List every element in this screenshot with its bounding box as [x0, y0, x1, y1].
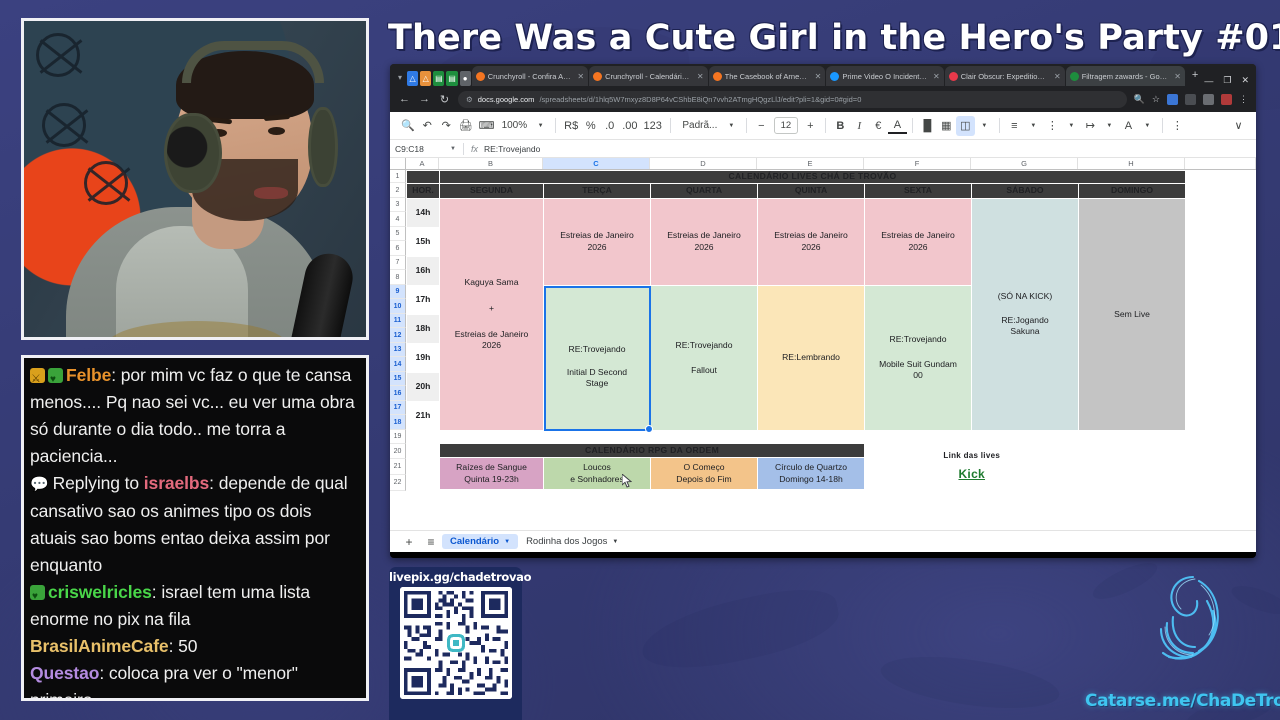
omnibar-actions: 🔍 ☆ ⋮ — [1134, 94, 1248, 105]
kick-link[interactable]: Kick — [865, 466, 1079, 482]
headphones-band — [182, 41, 324, 83]
row-header-10[interactable]: 10 — [390, 299, 406, 314]
font-caret-icon[interactable]: ▼ — [722, 116, 741, 136]
catarse-watermark: Catarse.me/ChaDeTrovao — [1085, 565, 1275, 715]
close-tab-icon[interactable]: ✕ — [930, 72, 940, 81]
webcam-video — [21, 18, 369, 340]
tab-pinned-sheets-active[interactable]: ▤ — [433, 71, 444, 86]
font-family-select[interactable]: Padrã... — [676, 116, 722, 136]
row-header-column: 1 2 3 4 5 6 7 8 9 10 11 12 13 14 15 16 1… — [390, 158, 406, 530]
headphones-cup — [308, 107, 338, 187]
row-header-4[interactable]: 4 — [390, 212, 406, 227]
day-header-row: HOR. SEGUNDA TERÇA QUARTA QUINTA SEXTA S… — [407, 184, 1257, 199]
sheet-tab-rodinha[interactable]: Rodinha dos Jogos ▼ — [518, 534, 626, 549]
prime-video-favicon — [830, 72, 839, 81]
chat-panel[interactable]: Felbe: por mim vc faz o que te cansa men… — [21, 355, 369, 701]
chrome-menu-icon[interactable]: ⋮ — [1239, 94, 1248, 105]
link-label: Link das lives — [865, 451, 1079, 462]
hour-label-18h[interactable]: 18h — [407, 315, 440, 344]
close-tab-icon[interactable]: ✕ — [1171, 72, 1181, 81]
extension-icon[interactable] — [1221, 94, 1232, 105]
reply-bubble-icon: 💬 — [30, 471, 49, 498]
sheet-tab-bar: + ≡ Calendário ▼ Rodinha dos Jogos ▼ — [390, 530, 1256, 552]
row-header-20[interactable]: 20 — [390, 444, 406, 459]
crunchyroll-favicon — [476, 72, 485, 81]
sheets-toolbar: 🔍 ↶ ↷ 🖨 ⌨ 100% ▼ R$ % .0 .00 123 Padrã..… — [390, 112, 1256, 140]
calendar-title-row: CALENDÁRIO LIVES CHÁ DE TROVÃO — [407, 171, 1257, 184]
browser-tab[interactable]: Crunchyroll - Calendário de Tra ✕ — [589, 66, 708, 86]
column-header-E[interactable]: E — [757, 158, 864, 169]
browser-tab[interactable]: The Casebook of Arne em port ✕ — [709, 66, 826, 86]
column-header-F[interactable]: F — [864, 158, 971, 169]
close-tab-icon[interactable]: ✕ — [694, 72, 704, 81]
chevron-down-icon[interactable]: ▼ — [612, 539, 618, 545]
livepix-url-label: livepix.gg/chadetrovao — [389, 570, 522, 584]
name-box[interactable]: C9:C18 — [395, 144, 450, 154]
corner-cell[interactable] — [390, 158, 406, 170]
chat-colon: : — [111, 365, 121, 385]
reload-icon[interactable]: ↻ — [438, 93, 451, 106]
cell-terca-bottom-selected[interactable]: RE:Trovejando Initial D SecondStage — [544, 286, 651, 431]
row-header-5[interactable]: 5 — [390, 227, 406, 241]
name-box-caret-icon[interactable]: ▼ — [450, 146, 456, 152]
text-wrap-icon[interactable]: ↦ — [1081, 116, 1100, 136]
tab-pinned-sheets[interactable]: ▤ — [446, 71, 457, 86]
tab-title: Clair Obscur: Expedition 33 #16 — [961, 72, 1048, 81]
quarta-line2: Fallout — [651, 365, 757, 377]
sheet-tab-label: Calendário — [450, 536, 499, 547]
site-info-icon[interactable]: ⚙ — [466, 95, 473, 104]
quarta-line1: RE:Trovejando — [651, 340, 757, 352]
calendar-title: CALENDÁRIO LIVES CHÁ DE TROVÃO — [440, 171, 1186, 184]
toolbar-divider — [746, 118, 747, 133]
link-block: Link das lives Kick — [865, 444, 1079, 490]
percent-format-button[interactable]: % — [581, 116, 600, 136]
day-header-terca: TERÇA — [544, 184, 651, 199]
column-header-H[interactable]: H — [1078, 158, 1185, 169]
mouse-cursor-icon — [622, 474, 632, 488]
undo-icon[interactable]: ↶ — [418, 116, 437, 136]
row-header-16[interactable]: 16 — [390, 386, 406, 401]
chat-colon: : — [209, 473, 219, 493]
extension-icon[interactable] — [1167, 94, 1178, 105]
rpg-item-3[interactable]: O ComeçoDepois do Fim — [651, 458, 758, 490]
merge-cells-icon[interactable]: ◫ — [956, 116, 975, 136]
increase-font-size-button[interactable]: + — [801, 116, 820, 136]
cell-sabado-block[interactable]: (SÓ NA KICK) RE:JogandoSakuna — [972, 199, 1079, 431]
add-sheet-icon[interactable]: + — [398, 535, 420, 549]
day-header-sabado: SÁBADO — [972, 184, 1079, 199]
crunchyroll-favicon — [593, 72, 602, 81]
hour-label-21h[interactable]: 21h — [407, 402, 440, 431]
row-header-9[interactable]: 9 — [390, 285, 406, 299]
column-headers: A B C D E F G H — [406, 158, 1256, 170]
formula-bar: C9:C18 ▼ fx RE:Trovejando — [390, 140, 1256, 158]
row-header-12[interactable]: 12 — [390, 328, 406, 343]
toolbar-divider — [1162, 118, 1163, 133]
row-header-8[interactable]: 8 — [390, 270, 406, 285]
browser-tab[interactable]: Clair Obscur: Expedition 33 #16 ✕ — [945, 66, 1065, 86]
close-window-button[interactable]: ✕ — [1241, 75, 1249, 86]
browser-window: ▾ △ △ ▤ ▤ ● Crunchyroll - Confira Animes… — [390, 64, 1256, 558]
formula-fx-icon: fx — [471, 144, 478, 154]
hour-label-14h[interactable]: 14h — [407, 199, 440, 228]
minimize-button[interactable]: — — [1204, 76, 1213, 86]
tab-search-icon[interactable]: ▾ — [394, 68, 406, 86]
window-bottom-edge — [390, 552, 1256, 558]
toolbar-divider — [555, 118, 556, 133]
toolbar-divider — [670, 118, 671, 133]
chat-message: 💬Replying to israelbs: depende de qual c… — [30, 470, 358, 579]
chat-username[interactable]: criswelricles — [48, 582, 152, 602]
segunda-plus: + — [440, 303, 543, 315]
hour-label-17h[interactable]: 17h — [407, 286, 440, 315]
valign-caret-icon[interactable]: ▼ — [1062, 116, 1081, 136]
new-tab-button[interactable]: + — [1186, 69, 1204, 81]
tab-title: Prime Video O Incidente de Dv — [842, 72, 927, 81]
halign-caret-icon[interactable]: ▼ — [1024, 116, 1043, 136]
hour-label-20h[interactable]: 20h — [407, 373, 440, 402]
day-header-segunda: SEGUNDA — [440, 184, 544, 199]
chevron-down-icon[interactable]: ▼ — [504, 539, 510, 545]
subscriber-badge-icon — [48, 368, 63, 383]
collapse-toolbar-icon[interactable]: ∨ — [1229, 116, 1248, 136]
back-icon[interactable]: ← — [398, 93, 411, 105]
url-domain: docs.google.com — [478, 95, 535, 104]
day-header-quarta: QUARTA — [651, 184, 758, 199]
hour-label-19h[interactable]: 19h — [407, 344, 440, 373]
row-header-2[interactable]: 2 — [390, 183, 406, 198]
row-header-6[interactable]: 6 — [390, 241, 406, 256]
tab-title: Filtragem zawards - Google Pla — [1082, 72, 1169, 81]
google-sheets-page: 🔍 ↶ ↷ 🖨 ⌨ 100% ▼ R$ % .0 .00 123 Padrã..… — [390, 112, 1256, 552]
moderator-badge-icon — [30, 368, 45, 383]
toolbar-divider — [825, 118, 826, 133]
spreadsheet-grid[interactable]: 1 2 3 4 5 6 7 8 9 10 11 12 13 14 15 16 1… — [390, 158, 1256, 530]
rpg-item-1[interactable]: Raízes de Sangue Quinta 19-23h — [440, 458, 544, 490]
sheet-tab-calendario[interactable]: Calendário ▼ — [442, 534, 518, 549]
horizontal-align-icon[interactable]: ≡ — [1005, 116, 1024, 136]
chat-username[interactable]: Felbe — [66, 365, 111, 385]
tab-title: Crunchyroll - Calendário de Tra — [605, 72, 691, 81]
tab-pinned-drive[interactable]: △ — [407, 71, 418, 86]
browser-tabstrip: ▾ △ △ ▤ ▤ ● Crunchyroll - Confira Animes… — [390, 64, 1256, 86]
chat-message: Questao: coloca pra ver o "menor" primei… — [30, 660, 358, 701]
bold-button[interactable]: B — [831, 116, 850, 136]
rpg-item-1-when: Quinta 19-23h — [440, 474, 543, 486]
reply-prefix: Replying to — [53, 473, 139, 493]
chat-message: Felbe: por mim vc faz o que te cansa men… — [30, 362, 358, 470]
more-formats-button[interactable]: 123 — [641, 116, 665, 136]
forward-icon[interactable]: → — [418, 93, 431, 105]
streamer-mouth — [254, 187, 288, 199]
calendar-table: CALENDÁRIO LIVES CHÁ DE TROVÃO HOR. SEGU… — [406, 170, 1256, 490]
cell-domingo-block[interactable]: Sem Live — [1079, 199, 1186, 431]
rpg-item-2[interactable]: Loucose Sonhadores — [544, 458, 651, 490]
vertical-align-icon[interactable]: ⋮ — [1043, 116, 1062, 136]
cell-quinta-bottom[interactable]: RE:Lembrando — [758, 286, 865, 431]
calendar-row-14h: 14h Kaguya Sama + Estreias de Janeiro202… — [407, 199, 1257, 228]
row-header-7[interactable]: 7 — [390, 256, 406, 270]
rpg-title-row: CALENDÁRIO RPG DA ORDEM Link das lives K… — [407, 444, 1257, 458]
crunchyroll-favicon — [713, 72, 722, 81]
sabado-line1: (SÓ NA KICK) — [972, 291, 1078, 303]
day-header-hor: HOR. — [407, 184, 440, 199]
browser-tab[interactable]: Prime Video O Incidente de Dv ✕ — [826, 66, 943, 86]
headphones-cup — [164, 113, 222, 193]
redo-icon[interactable]: ↷ — [437, 116, 456, 136]
column-header-I[interactable] — [1185, 158, 1256, 169]
terca-line2: Initial D SecondStage — [544, 367, 650, 390]
row-header-13[interactable]: 13 — [390, 343, 406, 357]
merge-caret-icon[interactable]: ▼ — [975, 116, 994, 136]
row-header-14[interactable]: 14 — [390, 357, 406, 372]
livepix-donation-card: livepix.gg/chadetrovao — [389, 567, 522, 720]
column-header-A[interactable]: A — [406, 158, 439, 169]
chat-colon: : — [99, 663, 109, 683]
font-size-input[interactable]: 12 — [774, 117, 798, 134]
row-header-19[interactable]: 19 — [390, 430, 406, 444]
fill-color-icon[interactable]: █ — [918, 116, 937, 136]
search-icon[interactable]: 🔍 — [398, 116, 418, 136]
chat-colon: : — [152, 582, 162, 602]
cell-segunda-block[interactable]: Kaguya Sama + Estreias de Janeiro2026 — [440, 199, 544, 431]
sheet-tab-label: Rodinha dos Jogos — [526, 536, 607, 547]
row-header-1[interactable]: 1 — [390, 170, 406, 183]
cell-terca-top[interactable]: Estreias de Janeiro2026 — [544, 199, 651, 286]
window-controls: — ❐ ✕ — [1204, 75, 1256, 86]
tab-pinned-drive-2[interactable]: △ — [420, 71, 431, 86]
sheet-area: A B C D E F G H — [406, 158, 1256, 530]
zoom-caret-icon[interactable]: ▼ — [531, 116, 550, 136]
row-header-3[interactable]: 3 — [390, 198, 406, 212]
row-header-21[interactable]: 21 — [390, 459, 406, 475]
borders-icon[interactable]: ▦ — [937, 116, 956, 136]
currency-format-button[interactable]: R$ — [561, 116, 581, 136]
address-bar[interactable]: ⚙ docs.google.com/spreadsheets/d/1hlq5W7… — [458, 91, 1127, 108]
sabado-line2: RE:JogandoSakuna — [972, 315, 1078, 338]
rpg-item-4-name: Círculo de Quartzo — [758, 462, 864, 474]
chat-username[interactable]: Questao — [30, 663, 99, 683]
browser-tab-active[interactable]: Filtragem zawards - Google Pla ✕ — [1066, 66, 1185, 86]
url-path: /spreadsheets/d/1hlq5W7mxyz8D8P64vCShbE8… — [539, 95, 861, 104]
row-header-22[interactable]: 22 — [390, 475, 406, 491]
cell-quarta-top[interactable]: Estreias de Janeiro2026 — [651, 199, 758, 286]
terca-line1: RE:Trovejando — [544, 344, 650, 356]
cell-quarta-bottom[interactable]: RE:Trovejando Fallout — [651, 286, 758, 431]
hour-label-15h[interactable]: 15h — [407, 228, 440, 257]
divider — [463, 143, 464, 155]
segunda-line1: Kaguya Sama — [440, 277, 543, 289]
rpg-item-4[interactable]: Círculo de Quartzo Domingo 14-18h — [758, 458, 865, 490]
row-header-11[interactable]: 11 — [390, 314, 406, 328]
calendar-blank-row — [407, 431, 1257, 444]
paint-format-icon[interactable]: ⌨ — [476, 116, 498, 136]
toolbar-divider — [999, 118, 1000, 133]
zoom-icon[interactable]: 🔍 — [1134, 94, 1145, 105]
profile-avatar[interactable] — [1203, 94, 1214, 105]
cell-sexta-top[interactable]: Estreias de Janeiro2026 — [865, 199, 972, 286]
background-shape — [636, 580, 844, 680]
bookmark-star-icon[interactable]: ☆ — [1152, 94, 1160, 105]
row-header-15[interactable]: 15 — [390, 372, 406, 386]
sexta-line1: RE:Trovejando — [865, 334, 971, 346]
rpg-items-row: Raízes de Sangue Quinta 19-23h Loucose S… — [407, 458, 1257, 490]
tab-title: Crunchyroll - Confira Animes L — [488, 72, 572, 81]
day-header-domingo: DOMINGO — [1079, 184, 1186, 199]
background-shape — [878, 648, 1063, 718]
youtube-favicon — [949, 72, 958, 81]
qr-code-svg — [400, 587, 512, 699]
background-symbol-icon — [36, 33, 80, 77]
sexta-line2: Mobile Suit Gundam00 — [865, 359, 971, 382]
page-title: There Was a Cute Girl in the Hero's Part… — [388, 18, 1163, 64]
text-color-button[interactable]: A — [888, 118, 907, 134]
streamer-eye — [268, 127, 285, 135]
chat-colon: : — [169, 636, 179, 656]
tab-title: The Casebook of Arne em port — [725, 72, 809, 81]
row-header-18[interactable]: 18 — [390, 415, 406, 430]
chat-username[interactable]: BrasilAnimeCafe — [30, 636, 169, 656]
toolbar-divider — [912, 118, 913, 133]
chat-message: criswelricles: israel tem uma lista enor… — [30, 579, 358, 633]
day-header-sexta: SEXTA — [865, 184, 972, 199]
hour-label-16h[interactable]: 16h — [407, 257, 440, 286]
day-header-quinta: QUINTA — [758, 184, 865, 199]
cell-quinta-top[interactable]: Estreias de Janeiro2026 — [758, 199, 865, 286]
browser-tab[interactable]: Crunchyroll - Confira Animes L ✕ — [472, 66, 588, 86]
column-header-G[interactable]: G — [971, 158, 1078, 169]
column-header-B[interactable]: B — [439, 158, 543, 169]
catarse-logo-icon — [1121, 565, 1261, 680]
strikethrough-button[interactable]: € — [869, 116, 888, 136]
close-tab-icon[interactable]: ✕ — [812, 72, 822, 81]
cell-sexta-bottom[interactable]: RE:Trovejando Mobile Suit Gundam00 — [865, 286, 972, 431]
column-header-C[interactable]: C — [543, 158, 650, 169]
chat-message: BrasilAnimeCafe: 50 — [30, 633, 358, 660]
all-sheets-icon[interactable]: ≡ — [420, 535, 442, 549]
chat-text: 50 — [178, 636, 197, 656]
wrap-caret-icon[interactable]: ▼ — [1100, 116, 1119, 136]
decrease-decimal-button[interactable]: .0 — [600, 116, 619, 136]
rpg-title: CALENDÁRIO RPG DA ORDEM — [440, 444, 865, 458]
browser-omnibar: ← → ↻ ⚙ docs.google.com/spreadsheets/d/1… — [390, 86, 1256, 112]
reply-target-username[interactable]: israelbs — [144, 473, 209, 493]
column-header-D[interactable]: D — [650, 158, 757, 169]
row-header-17[interactable]: 17 — [390, 401, 406, 415]
maximize-button[interactable]: ❐ — [1223, 75, 1231, 86]
print-icon[interactable]: 🖨 — [456, 116, 476, 136]
increase-decimal-button[interactable]: .00 — [619, 116, 640, 136]
more-options-icon[interactable]: ⋮ — [1168, 116, 1187, 136]
formula-input[interactable]: RE:Trovejando — [484, 144, 540, 154]
close-tab-icon[interactable]: ✕ — [1051, 72, 1061, 81]
background-symbol-icon — [42, 103, 86, 147]
text-rotation-icon[interactable]: A — [1119, 116, 1138, 136]
decrease-font-size-button[interactable]: − — [752, 116, 771, 136]
subscriber-badge-icon — [30, 585, 45, 600]
sheets-favicon — [1070, 72, 1079, 81]
rotation-caret-icon[interactable]: ▼ — [1138, 116, 1157, 136]
close-tab-icon[interactable]: ✕ — [574, 72, 584, 81]
background-symbol-icon — [84, 161, 128, 205]
segunda-line2: Estreias de Janeiro2026 — [440, 329, 543, 352]
rpg-item-1-name: Raízes de Sangue — [440, 462, 543, 474]
rpg-item-4-when: Domingo 14-18h — [758, 474, 864, 486]
zoom-level[interactable]: 100% — [498, 116, 532, 136]
extension-icon[interactable] — [1185, 94, 1196, 105]
catarse-url-label: Catarse.me/ChaDeTrovao — [1085, 691, 1275, 711]
tab-pinned-other[interactable]: ● — [460, 71, 471, 86]
qr-code[interactable] — [400, 587, 512, 699]
italic-button[interactable]: I — [850, 116, 869, 136]
